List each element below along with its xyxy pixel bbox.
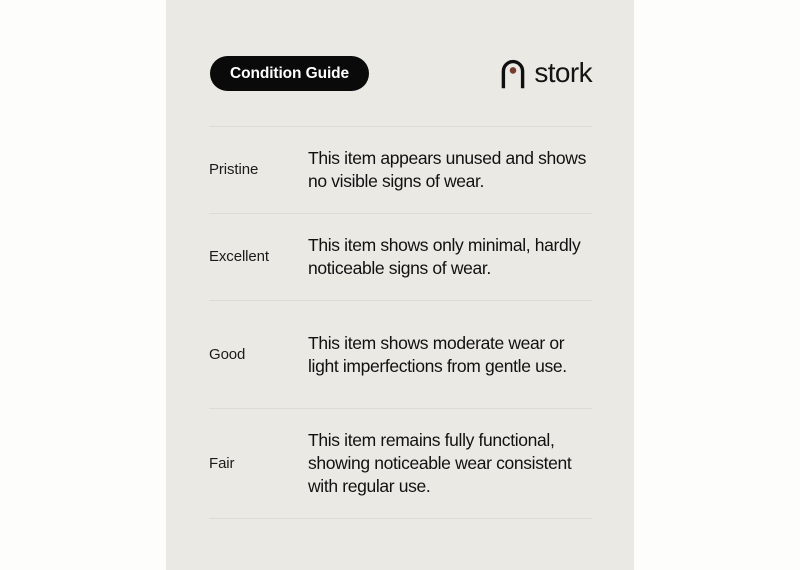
stork-arch-logo-icon xyxy=(500,58,526,89)
table-row: Excellent This item shows only minimal, … xyxy=(209,214,592,300)
condition-guide-card: Condition Guide stork Pristine This item… xyxy=(166,0,634,570)
condition-label-fair: Fair xyxy=(209,455,308,473)
condition-description-fair: This item remains fully functional, show… xyxy=(308,429,592,498)
condition-guide-badge: Condition Guide xyxy=(210,56,369,91)
condition-description-good: This item shows moderate wear or light i… xyxy=(308,332,592,378)
page-root: Condition Guide stork Pristine This item… xyxy=(0,0,800,570)
condition-description-excellent: This item shows only minimal, hardly not… xyxy=(308,234,592,280)
table-divider-bottom xyxy=(209,518,592,519)
table-row: Pristine This item appears unused and sh… xyxy=(209,126,592,213)
table-row: Good This item shows moderate wear or li… xyxy=(209,301,592,408)
condition-table: Pristine This item appears unused and sh… xyxy=(209,126,592,519)
condition-description-pristine: This item appears unused and shows no vi… xyxy=(308,147,592,193)
brand-lockup: stork xyxy=(500,53,592,93)
condition-label-good: Good xyxy=(209,346,308,364)
condition-label-excellent: Excellent xyxy=(209,248,308,266)
table-row: Fair This item remains fully functional,… xyxy=(209,409,592,518)
card-header: Condition Guide stork xyxy=(166,0,634,126)
condition-guide-badge-label: Condition Guide xyxy=(230,66,349,82)
brand-wordmark: stork xyxy=(534,59,592,87)
condition-label-pristine: Pristine xyxy=(209,161,308,179)
